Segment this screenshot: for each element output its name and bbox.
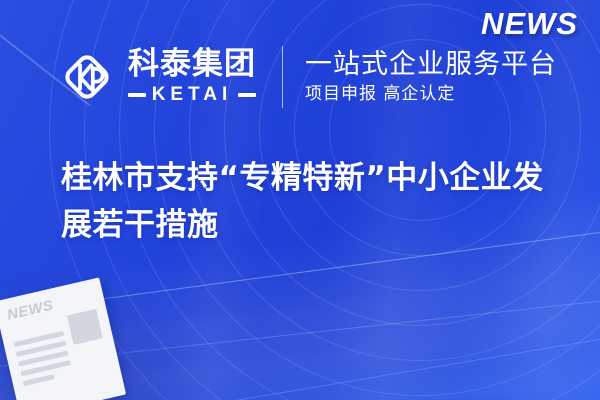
brand-name-en: KETAI (152, 84, 233, 106)
header-divider (282, 46, 283, 108)
news-wordmark: NEWS (481, 6, 578, 42)
tagline-sub: 项目申报 高企认定 (305, 83, 557, 105)
rule-right (238, 93, 256, 97)
brand-wordmark: 科泰集团 KETAI (128, 48, 256, 106)
brand-logo[interactable]: 科泰集团 KETAI (58, 48, 256, 106)
newspaper-icon: NEWS (0, 277, 126, 400)
headline-title: 桂林市支持“专精特新”中小企业发展若干措施 (61, 155, 557, 249)
rule-left (128, 93, 146, 97)
ketai-kp-monogram-icon (58, 48, 116, 106)
banner-header: 科泰集团 KETAI 一站式企业服务平台 项目申报 高企认定 (58, 38, 600, 116)
newspaper-sheet: NEWS (0, 277, 126, 400)
newspaper-line (23, 374, 55, 386)
newspaper-body (10, 309, 109, 386)
newspaper-text-lines (10, 317, 73, 386)
brand-name-en-row: KETAI (128, 84, 256, 106)
hairline-3 (171, 325, 600, 400)
tagline-block: 一站式企业服务平台 项目申报 高企认定 (305, 49, 557, 105)
news-banner: NEWS 科泰集 (0, 0, 600, 400)
newspaper-thumbnail (67, 309, 103, 345)
tagline-main: 一站式企业服务平台 (305, 49, 557, 80)
brand-name-cn: 科泰集团 (128, 48, 256, 81)
